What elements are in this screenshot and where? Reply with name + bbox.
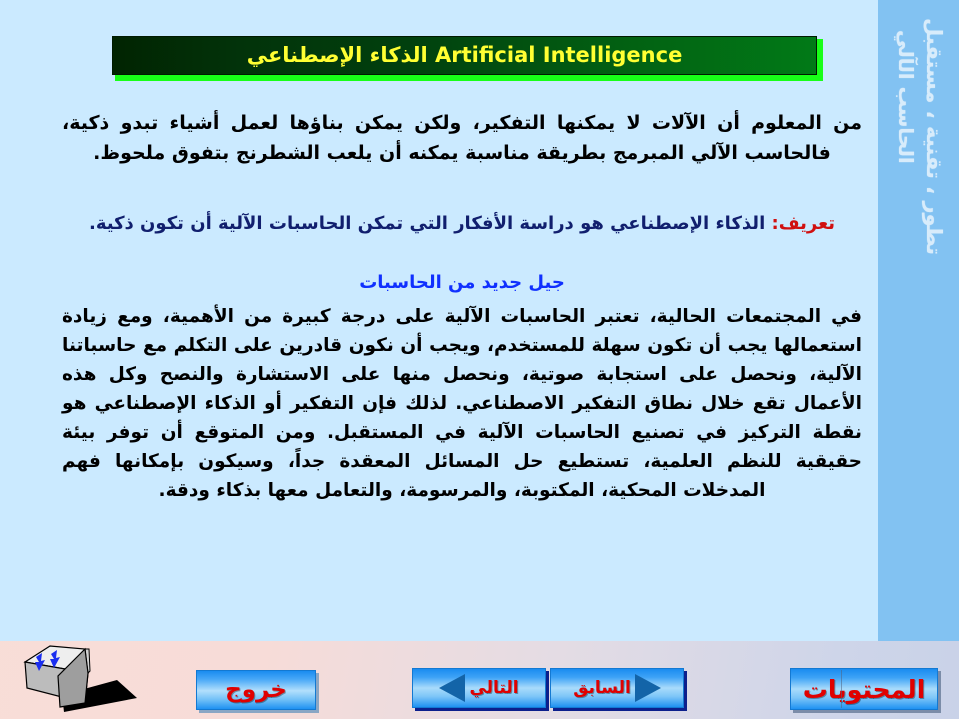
- side-band-text-secondary: الحاسب الآلي: [894, 30, 918, 164]
- side-band: تطور ، تقنية ، مستقبل الحاسب الآلي: [878, 0, 959, 641]
- side-band-text-primary: تطور ، تقنية ، مستقبل: [922, 18, 946, 255]
- definition-text: الذكاء الإصطناعي هو دراسة الأفكار التي ت…: [89, 213, 772, 234]
- slide-root: تطور ، تقنية ، مستقبل الحاسب الآلي Artif…: [0, 0, 959, 719]
- prev-button[interactable]: السابق: [550, 668, 684, 708]
- body-paragraph: في المجتمعات الحالية، تعتبر الحاسبات الآ…: [62, 302, 862, 505]
- title-banner-body: Artificial Intelligence الذكاء الإصطناعي: [112, 36, 817, 75]
- next-button[interactable]: التالي: [412, 668, 546, 708]
- exit-button[interactable]: خروج: [196, 670, 316, 710]
- prev-button-label: السابق: [573, 680, 631, 697]
- triangle-right-icon: [635, 674, 661, 702]
- contents-button-label: المحتويات: [803, 677, 926, 702]
- exit-button-label: خروج: [225, 679, 287, 702]
- next-button-label: التالي: [469, 680, 518, 697]
- contents-button-divider: [841, 670, 842, 708]
- intro-paragraph: من المعلوم أن الآلات لا يمكنها التفكير، …: [62, 108, 862, 168]
- section-subheading: جيل جديد من الحاسبات: [62, 272, 862, 293]
- contents-button[interactable]: المحتويات: [790, 668, 938, 710]
- triangle-left-icon: [439, 674, 465, 702]
- page-title: Artificial Intelligence الذكاء الإصطناعي: [247, 45, 683, 66]
- definition-label: تعريف:: [772, 213, 836, 234]
- title-banner: Artificial Intelligence الذكاء الإصطناعي: [112, 36, 820, 78]
- 3d-block-graphic: [22, 640, 152, 719]
- definition-line: تعريف: الذكاء الإصطناعي هو دراسة الأفكار…: [62, 210, 862, 238]
